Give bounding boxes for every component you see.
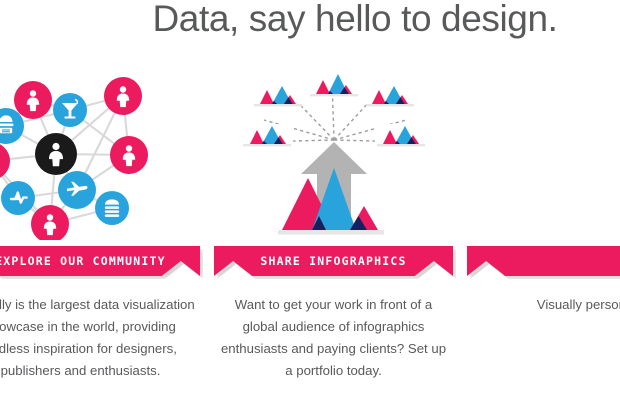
banner-explore-our-community[interactable]: EXPLORE OUR COMMUNITY bbox=[0, 246, 207, 280]
column-explore-our-community: EXPLORE OUR COMMUNITY Visually is the la… bbox=[0, 62, 207, 382]
column-body-text: Want to get your work in front of a glob… bbox=[218, 294, 450, 382]
banner-label: EXPLORE OUR COMMUNITY bbox=[0, 254, 166, 268]
node-cocktail-glass-blue bbox=[53, 93, 87, 127]
satellite-chart-2 bbox=[252, 84, 304, 106]
column-third-partial: Visually personal bbox=[460, 62, 620, 316]
node-person-pink-3 bbox=[0, 142, 10, 180]
network-graph-illustration bbox=[0, 62, 191, 240]
node-person-pink-1 bbox=[14, 81, 52, 119]
column-body-text: Visually personal bbox=[471, 294, 620, 316]
third-illustration-placeholder bbox=[477, 62, 620, 240]
node-person-pink-4 bbox=[110, 136, 148, 174]
satellite-chart-4 bbox=[364, 84, 416, 106]
satellite-chart-3 bbox=[308, 74, 360, 96]
column-share-infographics: SHARE INFOGRAPHICS Want to get your work… bbox=[207, 62, 460, 382]
arrow-and-charts-illustration bbox=[224, 62, 444, 240]
column-body-text: Visually is the largest data visualizati… bbox=[0, 294, 197, 382]
node-airplane-blue bbox=[58, 171, 96, 209]
node-person-pink-2 bbox=[104, 77, 142, 115]
page-title: Data, say hello to design. bbox=[45, 0, 620, 40]
banner-body[interactable] bbox=[467, 246, 620, 276]
main-chart bbox=[278, 168, 384, 235]
feature-columns: EXPLORE OUR COMMUNITY Visually is the la… bbox=[0, 62, 620, 382]
banner-share-infographics[interactable]: SHARE INFOGRAPHICS bbox=[207, 246, 460, 280]
banner-body[interactable]: SHARE INFOGRAPHICS bbox=[214, 246, 453, 276]
satellite-chart-1 bbox=[241, 124, 293, 146]
banner-third[interactable] bbox=[460, 246, 620, 280]
node-stack-blue bbox=[95, 191, 129, 225]
node-person-black-hub bbox=[35, 133, 77, 175]
banner-label: SHARE INFOGRAPHICS bbox=[260, 254, 406, 268]
satellite-chart-5 bbox=[375, 124, 427, 146]
node-pulse-blue bbox=[1, 181, 35, 215]
